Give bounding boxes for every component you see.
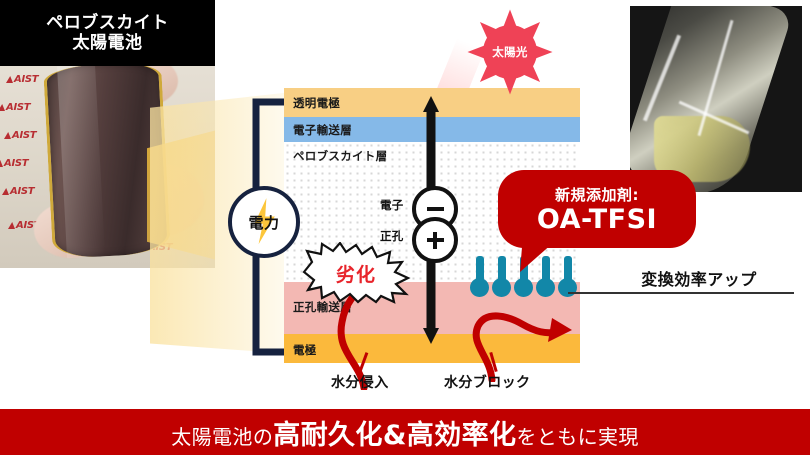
- aist-watermark: AIST: [4, 130, 36, 141]
- hole-circle: [412, 217, 458, 263]
- aist-watermark: AIST: [2, 186, 34, 197]
- left-photo-title-line2: 太陽電池: [73, 33, 143, 53]
- sun-ray: [468, 46, 485, 59]
- electron-label: 電子: [380, 197, 404, 213]
- banner-emphasis: 高耐久化&高効率化: [273, 420, 516, 451]
- cell-sheen: [57, 64, 105, 258]
- sun-label: 太陽光: [492, 44, 527, 60]
- sun-icon: 太陽光: [462, 6, 558, 98]
- layer-label-bottom-electrode: 電極: [284, 342, 317, 358]
- aist-watermark: AIST: [0, 102, 30, 113]
- bottom-banner: 太陽電池の高耐久化&高効率化をともに実現: [0, 409, 810, 455]
- left-photo-title: ペロブスカイト 太陽電池: [0, 0, 215, 66]
- aist-watermark: AIST: [0, 158, 28, 169]
- additive-callout-name: OA-TFSI: [537, 206, 657, 234]
- moisture-block-label: 水分ブロック: [444, 372, 530, 392]
- additive-vial-photo: [630, 6, 802, 192]
- additive-callout: 新規添加剤: OA-TFSI: [498, 170, 696, 248]
- sun-disc: 太陽光: [483, 25, 537, 79]
- sun-ray: [504, 10, 517, 27]
- layer-label-transparent-electrode: 透明電極: [284, 95, 340, 111]
- additive-pin-head: [514, 278, 533, 297]
- additive-pin-head: [536, 278, 555, 297]
- layer-label-electron-transport: 電子輸送層: [284, 122, 352, 138]
- layer-label-perovskite: ペロブスカイト層: [284, 148, 387, 164]
- moisture-intrusion-label: 水分侵入: [331, 372, 389, 392]
- banner-prefix: 太陽電池の: [171, 425, 273, 449]
- power-node: 電力: [228, 186, 300, 258]
- efficiency-annotation: 変換効率アップ: [608, 266, 790, 293]
- additive-callout-title: 新規添加剤:: [555, 184, 639, 205]
- degradation-burst: 劣化: [298, 242, 414, 304]
- additive-pin-head: [558, 278, 577, 297]
- degradation-label: 劣化: [298, 242, 414, 304]
- left-photo-title-line1: ペロブスカイト: [46, 13, 169, 33]
- sun-ray: [504, 78, 517, 95]
- infographic-canvas: AIST AIST AIST AIST AIST AIST AIST AIST …: [0, 0, 810, 455]
- sun-ray: [536, 46, 553, 59]
- minus-icon: [427, 207, 444, 211]
- bottom-banner-text: 太陽電池の高耐久化&高効率化をともに実現: [171, 413, 639, 452]
- plus-icon: [427, 238, 444, 242]
- power-label: 電力: [248, 212, 279, 233]
- efficiency-label: 変換効率アップ: [608, 266, 790, 293]
- banner-suffix: をともに実現: [516, 425, 638, 449]
- aist-watermark: AIST: [6, 74, 38, 85]
- additive-pin-head: [492, 278, 511, 297]
- additive-pin-head: [470, 278, 489, 297]
